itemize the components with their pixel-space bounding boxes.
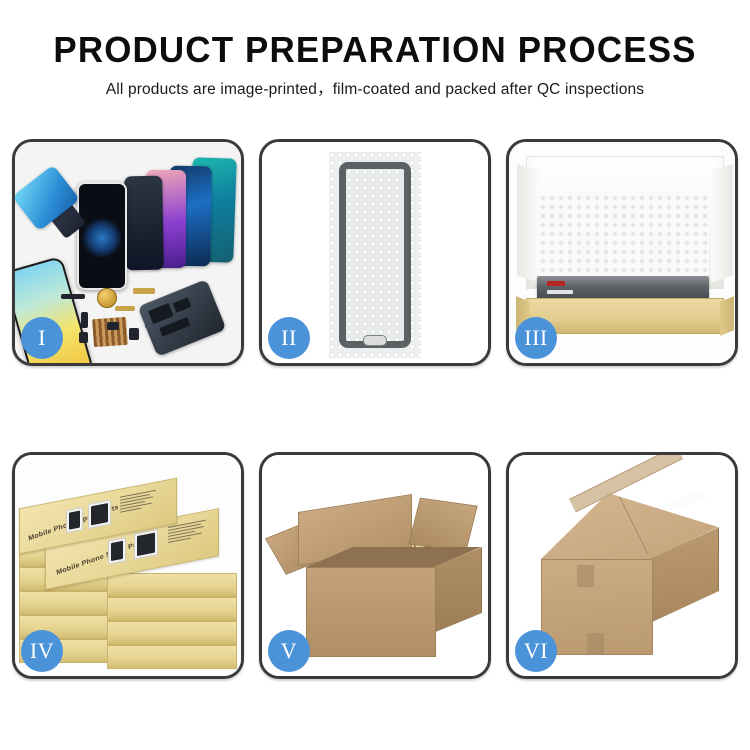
page-title: PRODUCT PREPARATION PROCESS [11,30,739,70]
kraft-box-base-icon [526,298,724,334]
flex-cable-3 [115,306,135,311]
speaker-component-icon [97,288,117,308]
step-panel-stacked-retail-boxes[interactable]: Mobile Phone Spare Parts Mobile Phone Sp… [12,452,244,679]
step-badge-5: V [268,630,310,672]
step-panel-sealed-shipping-carton[interactable]: VI [506,452,738,679]
part-chip-4 [107,322,119,330]
part-chip-1 [61,294,85,299]
step-panel-carton-filled-with-boxes[interactable]: V [259,452,491,679]
step-badge-4: IV [21,630,63,672]
screen-glass-icon [77,182,127,290]
page-subtitle: All products are image-printed，film-coat… [0,77,750,99]
process-steps-grid: I II III [12,139,738,679]
carton-tab-lower [587,633,604,655]
step-panel-screen-in-open-box[interactable]: III [506,139,738,366]
wrapped-screen-icon [339,162,411,348]
step-panel-bubble-wrapped-screen[interactable]: II [259,139,491,366]
carton-tab-upper [577,565,594,587]
home-button-icon [363,335,387,346]
bubble-wrap-sheet-icon [329,152,421,358]
carton-flap-right-icon [408,498,477,553]
step-badge-6: VI [515,630,557,672]
phone-dark-icon [124,176,164,271]
step-badge-3: III [515,317,557,359]
carton-front-panel-icon [306,567,436,657]
step-badge-1: I [21,317,63,359]
step-panel-products-overview[interactable]: I [12,139,244,366]
step-badge-2: II [268,317,310,359]
foam-padding-icon [539,194,709,278]
part-chip-3 [79,332,88,343]
page-header: PRODUCT PREPARATION PROCESS All products… [0,0,750,99]
part-chip-5 [129,328,139,340]
part-chip-2 [81,312,88,328]
flex-cable-1 [133,288,155,294]
